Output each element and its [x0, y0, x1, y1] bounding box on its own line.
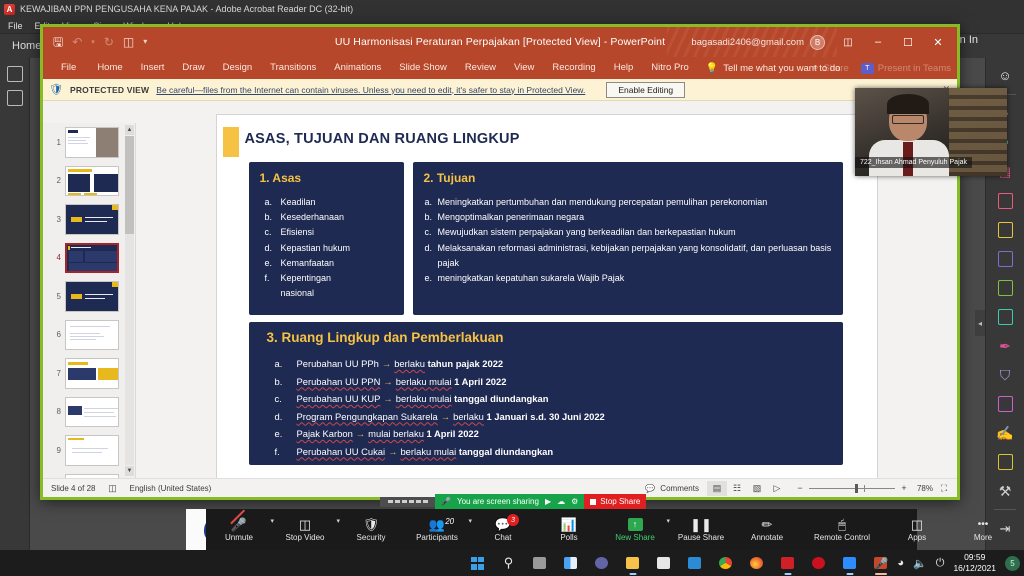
- stamp-icon[interactable]: [994, 451, 1016, 473]
- video-status-icon: ▶: [545, 497, 551, 506]
- slide-title[interactable]: ASAS, TUJUAN DAN RUANG LINGKUP: [245, 131, 520, 147]
- asas-heading: 1. Asas: [260, 171, 302, 185]
- thumbnail-preview[interactable]: [65, 358, 119, 389]
- list-item: d. Program Pengungkapan Sukarela→berlaku…: [275, 408, 835, 426]
- thumbnail-number: 1: [45, 138, 61, 147]
- list-item: d.Melaksanakan reformasi administrasi, k…: [425, 241, 837, 271]
- stop-share-button[interactable]: Stop Share: [584, 494, 646, 509]
- asas-card[interactable]: 1. Asas a.Keadilan b.Kesederhanaan c.Efi…: [248, 161, 405, 316]
- tab-home[interactable]: Home: [88, 57, 131, 79]
- close-button[interactable]: ✕: [923, 29, 953, 55]
- thumbnail-preview[interactable]: [65, 435, 119, 466]
- zoom-level[interactable]: 78%: [917, 484, 939, 493]
- lightbulb-icon: 💡: [706, 63, 718, 74]
- opera-icon[interactable]: [803, 550, 834, 576]
- chat-unread-badge: 3: [507, 514, 519, 526]
- taskbar-icon-group: ⚲: [462, 550, 896, 576]
- thumbnail-item[interactable]: 10: [43, 470, 135, 479]
- zoom-icon[interactable]: [834, 550, 865, 576]
- thumbnail-number: 4: [45, 253, 61, 262]
- protected-view-bar: 🛡 PROTECTED VIEW Be careful—files from t…: [43, 79, 957, 101]
- share-screen-icon: ↑: [628, 518, 643, 531]
- clock-date: 16/12/2021: [953, 563, 996, 574]
- shield-icon: 🛡: [363, 518, 380, 531]
- clock[interactable]: 09:59 16/12/2021: [953, 552, 996, 574]
- list-item: a. Perubahan UU PPh→berlaku tahun pajak …: [275, 355, 835, 373]
- participants-button[interactable]: 👥20 Participants ▾: [404, 509, 470, 551]
- present-in-teams-button[interactable]: T Present in Teams: [861, 63, 951, 74]
- avatar[interactable]: B: [810, 35, 825, 50]
- tab-help[interactable]: Help: [605, 57, 643, 79]
- arrow-icon: →: [438, 411, 453, 422]
- remote-control-button[interactable]: 🖱 Remote Control: [800, 509, 884, 551]
- fit-slide-to-window-button[interactable]: ⛶: [939, 483, 957, 494]
- tujuan-heading: 2. Tujuan: [424, 171, 476, 185]
- thumbnail-item[interactable]: 4: [43, 239, 135, 278]
- scrollbar-thumb[interactable]: [125, 136, 134, 234]
- tujuan-list: a.Meningkatkan pertumbuhan dan mendukung…: [425, 195, 837, 286]
- windows-taskbar: ⚲ 🎤 ◕ 🔈 ⏻ 09:59 16/12/2021 5: [0, 550, 1024, 576]
- slide-thumbnail-panel[interactable]: 1 2 3: [43, 123, 136, 478]
- share-toolbar-drag-handle[interactable]: [380, 497, 435, 507]
- more-button[interactable]: ••• More: [950, 509, 1016, 551]
- pause-icon: ❚❚: [690, 518, 712, 531]
- slide-editing-area[interactable]: ASAS, TUJUAN DAN RUANG LINGKUP 1. Asas a…: [136, 123, 957, 478]
- protect-icon[interactable]: ⛉: [994, 364, 1016, 386]
- organize-pages-icon[interactable]: [994, 306, 1016, 328]
- participant-video-overlay[interactable]: 722_Ihsan Ahmad Penyuluh Pajak: [855, 88, 1007, 176]
- arrow-icon: →: [353, 428, 368, 439]
- list-item: b.Kesederhanaan: [265, 210, 357, 225]
- file-explorer-icon[interactable]: [617, 550, 648, 576]
- share-button[interactable]: ⚭ Share: [811, 63, 848, 74]
- thumbnail-scrollbar[interactable]: ▲ ▼: [125, 125, 134, 476]
- tab-review[interactable]: Review: [456, 57, 505, 79]
- ruang-lingkup-card[interactable]: 3. Ruang Lingkup dan Pemberlakuan a. Per…: [248, 321, 844, 466]
- acrobat-panel-collapse-handle[interactable]: ◂: [975, 310, 985, 336]
- powerpoint-titlebar: 🖫 ↶ ▾ ↻ ◫ ▾ UU Harmonisasi Peraturan Per…: [43, 27, 957, 57]
- zoom-track[interactable]: [809, 488, 895, 489]
- people-icon: 👥20: [429, 518, 445, 531]
- export-pdf-icon[interactable]: [994, 248, 1016, 270]
- tab-view[interactable]: View: [505, 57, 543, 79]
- stop-square-icon: [590, 499, 596, 505]
- signature-icon[interactable]: ✍: [994, 422, 1016, 444]
- ribbon-right-group: ⚭ Share T Present in Teams: [811, 63, 951, 74]
- chat-bubble-icon: 💬3: [495, 518, 511, 531]
- thumbnail-preview-selected[interactable]: [65, 243, 119, 274]
- thumbnail-preview[interactable]: [65, 281, 119, 312]
- unmute-button[interactable]: 🎤 Unmute ▾: [206, 509, 272, 551]
- protected-view-message: Be careful—files from the Internet can c…: [156, 85, 585, 95]
- acrobat-titlebar: A KEWAJIBAN PPN PENGUSAHA KENA PAJAK - A…: [0, 0, 1024, 18]
- thumbnail-item[interactable]: 3: [43, 200, 135, 239]
- arrow-icon: →: [380, 393, 395, 404]
- apps-button[interactable]: ◫ Apps: [884, 509, 950, 551]
- thumbnail-item[interactable]: 7: [43, 354, 135, 393]
- arrow-icon: →: [385, 446, 400, 457]
- participant-name-label: 722_Ihsan Ahmad Penyuluh Pajak: [855, 157, 972, 168]
- ruang-lingkup-heading: 3. Ruang Lingkup dan Pemberlakuan: [267, 330, 504, 345]
- ribbon-display-options-button[interactable]: ◫: [833, 29, 863, 55]
- person-hair: [887, 94, 929, 114]
- comments-button[interactable]: 💬 Comments: [637, 484, 707, 493]
- thumbnail-item[interactable]: 2: [43, 162, 135, 201]
- tab-file[interactable]: File: [49, 57, 88, 79]
- participant-count: 20: [445, 515, 454, 528]
- microphone-muted-icon: 🎤: [231, 518, 247, 531]
- tab-animations[interactable]: Animations: [325, 57, 390, 79]
- stop-video-button[interactable]: ◫ Stop Video ▾: [272, 509, 338, 551]
- ellipsis-icon: •••: [978, 518, 989, 531]
- ribbon-tabs: File Home Insert Draw Design Transitions…: [43, 57, 957, 79]
- scroll-up-arrow-icon[interactable]: ▲: [125, 125, 134, 135]
- slide-indicator[interactable]: Slide 4 of 28: [43, 484, 103, 493]
- acrobat-menu-file[interactable]: File: [8, 21, 23, 31]
- thumbnail-preview[interactable]: [65, 320, 119, 351]
- compress-icon[interactable]: [994, 393, 1016, 415]
- zoom-in-button[interactable]: +: [895, 483, 913, 493]
- thumbnail-item[interactable]: 5: [43, 277, 135, 316]
- edit-pdf-icon[interactable]: [994, 277, 1016, 299]
- slide-sorter-button[interactable]: ☷: [727, 481, 747, 496]
- account-email[interactable]: bagasadi2406@gmail.com: [691, 37, 804, 48]
- comment-icon: 💬: [645, 484, 655, 493]
- slide-show-button[interactable]: ▷: [767, 481, 787, 496]
- microsoft-teams-icon[interactable]: [586, 550, 617, 576]
- pause-share-button[interactable]: ❚❚ Pause Share: [668, 509, 734, 551]
- google-chrome-icon[interactable]: [710, 550, 741, 576]
- volume-tray-icon[interactable]: 🔈: [913, 557, 927, 570]
- thumbnail-number: 3: [45, 215, 61, 224]
- thumbnail-preview[interactable]: [65, 397, 119, 428]
- polls-button[interactable]: 📊 Polls: [536, 509, 602, 551]
- arrow-icon: →: [380, 376, 395, 387]
- thumbnail-number: 7: [45, 369, 61, 378]
- share-icon: ⚭: [811, 63, 819, 74]
- tab-draw[interactable]: Draw: [173, 57, 213, 79]
- wifi-tray-icon[interactable]: ◕: [897, 557, 904, 569]
- acrobat-logo-icon: A: [4, 4, 15, 15]
- teams-icon: T: [861, 63, 874, 74]
- zoom-share-status-bar: 🎤 You are screen sharing ▶ ☁ ⚙ Stop Shar…: [380, 494, 715, 509]
- fill-sign-icon[interactable]: ✒: [994, 335, 1016, 357]
- battery-tray-icon[interactable]: ⏻: [936, 557, 945, 570]
- list-item: a.Keadilan: [265, 195, 357, 210]
- create-pdf-icon[interactable]: [994, 190, 1016, 212]
- thumbnail-preview[interactable]: [65, 204, 119, 235]
- microphone-status-icon: 🎤: [441, 497, 451, 506]
- list-item: f. Perubahan UU Cukai→berlaku mulai tang…: [275, 443, 835, 461]
- zoom-default-tick: [864, 485, 865, 492]
- list-item: e.Kemanfaatan: [265, 256, 357, 271]
- pencil-icon: ✏: [762, 518, 773, 531]
- mouse-icon: 🖱: [838, 518, 846, 531]
- zoom-meeting-toolbar: 🎤 Unmute ▾ ◫ Stop Video ▾ 🛡 Security 👥20…: [206, 509, 917, 551]
- tab-design[interactable]: Design: [214, 57, 262, 79]
- thumbnail-preview[interactable]: [65, 166, 119, 197]
- shield-icon: 🛡: [49, 83, 63, 96]
- powerpoint-body: 1 2 3: [43, 123, 957, 478]
- zoom-out-button[interactable]: −: [791, 483, 809, 493]
- maximize-button[interactable]: ☐: [893, 29, 923, 55]
- list-item: e. Pajak Karbon→mulai berlaku 1 April 20…: [275, 425, 835, 443]
- chat-button[interactable]: 💬3 Chat: [470, 509, 536, 551]
- arrow-icon: →: [379, 358, 394, 369]
- title-accent-bar: [223, 127, 239, 157]
- list-item: c.Mewujudkan sistem perpajakan yang berk…: [425, 225, 837, 240]
- acrobat-left-rail: [0, 58, 30, 550]
- cloud-recording-icon: ☁: [557, 497, 565, 506]
- settings-icon: ⚙: [571, 497, 578, 506]
- titlebar-right-group: bagasadi2406@gmail.com B ◫ – ☐ ✕: [691, 29, 953, 55]
- list-item: e.meningkatkan kepatuhan sukarela Wajib …: [425, 271, 837, 286]
- list-item: b.Mengoptimalkan penerimaan negara: [425, 210, 837, 225]
- clock-time: 09:59: [953, 552, 996, 563]
- enable-editing-button[interactable]: Enable Editing: [606, 82, 685, 98]
- list-item: b. Perubahan UU PPN→berlaku mulai 1 Apri…: [275, 373, 835, 391]
- windows-logo-icon: [471, 557, 484, 570]
- tab-slide-show[interactable]: Slide Show: [390, 57, 456, 79]
- tujuan-card[interactable]: 2. Tujuan a.Meningkatkan pertumbuhan dan…: [412, 161, 844, 316]
- tab-recording[interactable]: Recording: [543, 57, 604, 79]
- thumbnail-item[interactable]: 9: [43, 431, 135, 470]
- list-item: c. Perubahan UU KUP→berlaku mulai tangga…: [275, 390, 835, 408]
- powerpoint-window: 🖫 ↶ ▾ ↻ ◫ ▾ UU Harmonisasi Peraturan Per…: [40, 24, 960, 500]
- comment-icon[interactable]: [994, 219, 1016, 241]
- adobe-acrobat-icon[interactable]: [772, 550, 803, 576]
- thumbnail-number: 6: [45, 330, 61, 339]
- thumbnail-number: 2: [45, 176, 61, 185]
- tab-insert[interactable]: Insert: [132, 57, 174, 79]
- list-item: f.Kepentingan nasional: [265, 271, 357, 301]
- firefox-icon[interactable]: [741, 550, 772, 576]
- search-icon[interactable]: ⚲: [493, 550, 524, 576]
- notification-badge[interactable]: 5: [1005, 556, 1020, 571]
- microsoft-store-icon[interactable]: [648, 550, 679, 576]
- microphone-tray-icon[interactable]: 🎤: [875, 557, 889, 570]
- add-person-icon[interactable]: ☺: [994, 65, 1016, 87]
- screen-sharing-indicator: 🎤 You are screen sharing ▶ ☁ ⚙: [435, 494, 584, 509]
- tools-panel-icon[interactable]: [7, 90, 23, 106]
- thumbnail-number: 9: [45, 446, 61, 455]
- scrollbar-track[interactable]: [125, 136, 134, 465]
- apps-grid-icon: ◫: [911, 518, 923, 531]
- list-item: a.Meningkatkan pertumbuhan dan mendukung…: [425, 195, 837, 210]
- system-tray: 🎤 ◕ 🔈 ⏻ 09:59 16/12/2021 5: [875, 550, 1020, 576]
- thumbnail-preview[interactable]: [65, 127, 119, 158]
- acrobat-window-title: KEWAJIBAN PPN PENGUSAHA KENA PAJAK - Ado…: [20, 4, 353, 14]
- security-button[interactable]: 🛡 Security: [338, 509, 404, 551]
- mail-icon[interactable]: [679, 550, 710, 576]
- thumbnail-number: 5: [45, 292, 61, 301]
- list-item: c.Efisiensi: [265, 225, 357, 240]
- ruang-lingkup-list: a. Perubahan UU PPh→berlaku tahun pajak …: [275, 355, 835, 460]
- person-glasses: [892, 115, 924, 124]
- language-indicator[interactable]: English (United States): [121, 484, 219, 493]
- bar-chart-icon: 📊: [561, 518, 577, 531]
- slide-canvas[interactable]: ASAS, TUJUAN DAN RUANG LINGKUP 1. Asas a…: [217, 115, 877, 486]
- zoom-slider[interactable]: − +: [791, 483, 913, 493]
- reading-view-button[interactable]: ▧: [747, 481, 767, 496]
- asas-list: a.Keadilan b.Kesederhanaan c.Efisiensi d…: [265, 195, 357, 301]
- new-share-button[interactable]: ↑ New Share ▾: [602, 509, 668, 551]
- video-camera-icon: ◫: [299, 518, 311, 531]
- annotate-button[interactable]: ✏ Annotate: [734, 509, 800, 551]
- task-view-icon[interactable]: [524, 550, 555, 576]
- minimize-button[interactable]: –: [863, 29, 893, 55]
- thumbnail-item[interactable]: 1: [43, 123, 135, 162]
- thumbnail-number: 8: [45, 407, 61, 416]
- tab-nitro-pro[interactable]: Nitro Pro: [642, 57, 697, 79]
- accessibility-icon[interactable]: ◫: [103, 483, 121, 494]
- scroll-down-arrow-icon[interactable]: ▼: [125, 466, 134, 476]
- more-tools-icon[interactable]: ⚒: [994, 480, 1016, 502]
- home-panel-icon[interactable]: [7, 66, 23, 82]
- thumbnail-item[interactable]: 6: [43, 316, 135, 355]
- thumbnail-item[interactable]: 8: [43, 393, 135, 432]
- protected-view-label: PROTECTED VIEW: [70, 85, 149, 95]
- zoom-handle[interactable]: [855, 484, 858, 493]
- tab-transitions[interactable]: Transitions: [261, 57, 325, 79]
- list-item: d.Kepastian hukum: [265, 241, 357, 256]
- start-button[interactable]: [462, 550, 493, 576]
- widgets-icon[interactable]: [555, 550, 586, 576]
